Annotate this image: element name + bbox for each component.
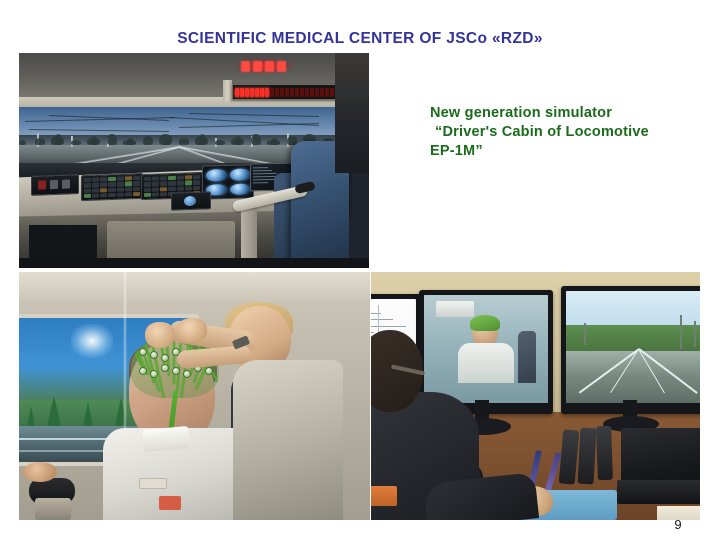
- data-trace-line: [371, 313, 381, 314]
- led-dot: [290, 88, 294, 97]
- console-key: [152, 192, 159, 197]
- eeg-electrode: [172, 367, 180, 375]
- led-dot: [285, 88, 289, 97]
- screen-text-line: [253, 182, 268, 183]
- console-key: [152, 187, 159, 192]
- console-key: [125, 192, 132, 197]
- monitor-simulator-view: [561, 286, 700, 414]
- led-dot: [250, 88, 254, 97]
- desk-folder: [371, 486, 397, 506]
- console-key: [108, 193, 115, 198]
- equipment-base: [35, 498, 71, 520]
- photo-eeg-cap-fitting: [19, 272, 370, 520]
- catenary-mast: [680, 315, 682, 349]
- distant-tree: [19, 140, 26, 145]
- console-key: [133, 192, 140, 197]
- eeg-electrode: [139, 348, 147, 356]
- console-key: [100, 177, 107, 182]
- video-chair: [518, 331, 536, 383]
- console-key: [144, 187, 151, 192]
- led-glow-segment: [277, 61, 286, 72]
- led-dot: [270, 88, 274, 97]
- console-key: [177, 186, 184, 191]
- led-glow-segment: [253, 61, 262, 72]
- led-dot: [315, 88, 319, 97]
- console-key: [133, 181, 140, 186]
- distant-tree: [91, 136, 98, 145]
- cabin-pillar: [223, 80, 232, 102]
- console-key: [160, 176, 167, 181]
- page-title: SCIENTIFIC MEDICAL CENTER OF JSCo «RZD»: [0, 30, 720, 48]
- console-key: [108, 177, 115, 182]
- gauge-dial: [206, 169, 227, 181]
- led-dot: [300, 88, 304, 97]
- console-key: [168, 181, 175, 186]
- technician-body: [233, 360, 343, 520]
- console-key: [144, 177, 151, 182]
- eeg-electrode: [161, 354, 169, 362]
- caption-line-2: “Driver's Cabin of Locomotive: [430, 123, 705, 142]
- remote-control[interactable]: [596, 426, 613, 480]
- console-key: [117, 187, 124, 192]
- console-key: [84, 178, 91, 183]
- monitor-screen-track: [566, 291, 700, 403]
- console-key: [193, 185, 200, 190]
- console-key: [125, 187, 132, 192]
- distant-tree: [163, 140, 170, 145]
- console-key: [144, 182, 151, 187]
- distant-tree: [271, 138, 278, 145]
- led-dot: [245, 88, 249, 97]
- console-key: [160, 187, 167, 192]
- distant-tree: [127, 138, 134, 145]
- led-glow-segment: [265, 61, 274, 72]
- distant-tree: [179, 138, 189, 145]
- photo-monitoring-workstation: [371, 272, 700, 520]
- console-joystick-panel: [171, 191, 211, 210]
- operator-badge: [159, 496, 181, 510]
- console-key: [125, 181, 132, 186]
- console-key: [92, 183, 99, 188]
- operator-shirt-patch: [139, 478, 167, 489]
- led-dot: [325, 88, 329, 97]
- distant-tree: [143, 136, 153, 145]
- console-key: [152, 176, 159, 181]
- console-key: [168, 176, 175, 181]
- led-dot: [265, 88, 269, 97]
- led-dot: [305, 88, 309, 97]
- catenary-mast: [694, 321, 696, 347]
- distant-tree: [55, 134, 62, 145]
- operator-shirt-collar: [142, 426, 190, 452]
- sun-glare: [71, 324, 113, 358]
- console-key: [84, 183, 91, 188]
- eeg-electrode: [150, 370, 158, 378]
- console-panel-left: [31, 174, 79, 196]
- eeg-electrode: [205, 367, 213, 375]
- console-key: [125, 176, 132, 181]
- technician-hand: [145, 322, 175, 348]
- technician-hand: [177, 318, 207, 342]
- eeg-electrode: [183, 370, 191, 378]
- led-dot: [330, 88, 334, 97]
- console-key: [117, 182, 124, 187]
- console-key: [92, 193, 99, 198]
- gauge-dial: [230, 183, 251, 195]
- led-dot: [240, 88, 244, 97]
- console-key: [92, 177, 99, 182]
- console-key: [193, 180, 200, 185]
- console-key: [152, 182, 159, 187]
- monitor-screen-video: [424, 295, 548, 403]
- catenary-mast: [584, 323, 586, 345]
- distant-tree: [251, 134, 261, 145]
- distant-tree: [215, 140, 225, 145]
- gauge-dial: [230, 168, 251, 180]
- page-number: 9: [668, 517, 688, 532]
- eeg-electrode: [161, 364, 169, 372]
- cabin-windshield: [19, 107, 335, 166]
- led-dot: [235, 88, 239, 97]
- console-key: [168, 186, 175, 191]
- remote-control[interactable]: [578, 428, 597, 485]
- console-key: [193, 175, 200, 180]
- distant-tree: [199, 134, 206, 145]
- room-ceiling: [19, 272, 370, 308]
- distant-tree: [35, 138, 45, 145]
- caption-line-1: New generation simulator: [430, 104, 705, 123]
- data-trace-line: [371, 332, 374, 333]
- console-key: [133, 186, 140, 191]
- console-key: [185, 175, 192, 180]
- console-key: [185, 186, 192, 191]
- led-dot: [295, 88, 299, 97]
- console-key: [108, 187, 115, 192]
- console-key: [133, 176, 140, 181]
- distant-tree: [107, 134, 117, 145]
- foreground-hand: [23, 462, 57, 482]
- console-key: [100, 188, 107, 193]
- led-dot: [320, 88, 324, 97]
- photo-locomotive-cabin: [19, 53, 369, 268]
- console-keypad-1: [81, 173, 143, 201]
- video-operator-body: [458, 343, 514, 383]
- console-key: [160, 181, 167, 186]
- cabin-right-wall: [335, 53, 369, 173]
- led-dot: [310, 88, 314, 97]
- console-key: [177, 181, 184, 186]
- screen-text-line: [253, 173, 277, 174]
- console-key: [100, 193, 107, 198]
- eeg-electrode: [150, 351, 158, 359]
- console-key: [185, 180, 192, 185]
- led-glow-segment: [241, 61, 250, 72]
- console-key: [92, 188, 99, 193]
- cabin-floor: [19, 258, 369, 268]
- console-key: [117, 192, 124, 197]
- console-key: [108, 182, 115, 187]
- data-trace-line: [371, 319, 393, 320]
- console-key: [100, 182, 107, 187]
- console-key: [117, 177, 124, 182]
- screen-text-line: [253, 167, 268, 168]
- video-air-conditioner: [436, 301, 474, 317]
- distant-tree: [235, 136, 242, 145]
- photo-caption: New generation simulator “Driver's Cabin…: [430, 104, 705, 161]
- console-key: [84, 188, 91, 193]
- video-eeg-cap: [470, 315, 500, 331]
- led-dot: [255, 88, 259, 97]
- eeg-electrode: [139, 367, 147, 375]
- led-dot: [275, 88, 279, 97]
- console-key: [160, 192, 167, 197]
- led-dot: [260, 88, 264, 97]
- console-key: [177, 176, 184, 181]
- console-key: [144, 193, 151, 198]
- data-trace-line: [371, 326, 406, 327]
- caption-line-3: EP-1M”: [430, 142, 705, 161]
- screen-text-line: [253, 170, 272, 171]
- led-dot: [280, 88, 284, 97]
- printer-tray: [617, 480, 700, 504]
- distant-tree: [71, 140, 81, 145]
- console-key: [84, 194, 91, 199]
